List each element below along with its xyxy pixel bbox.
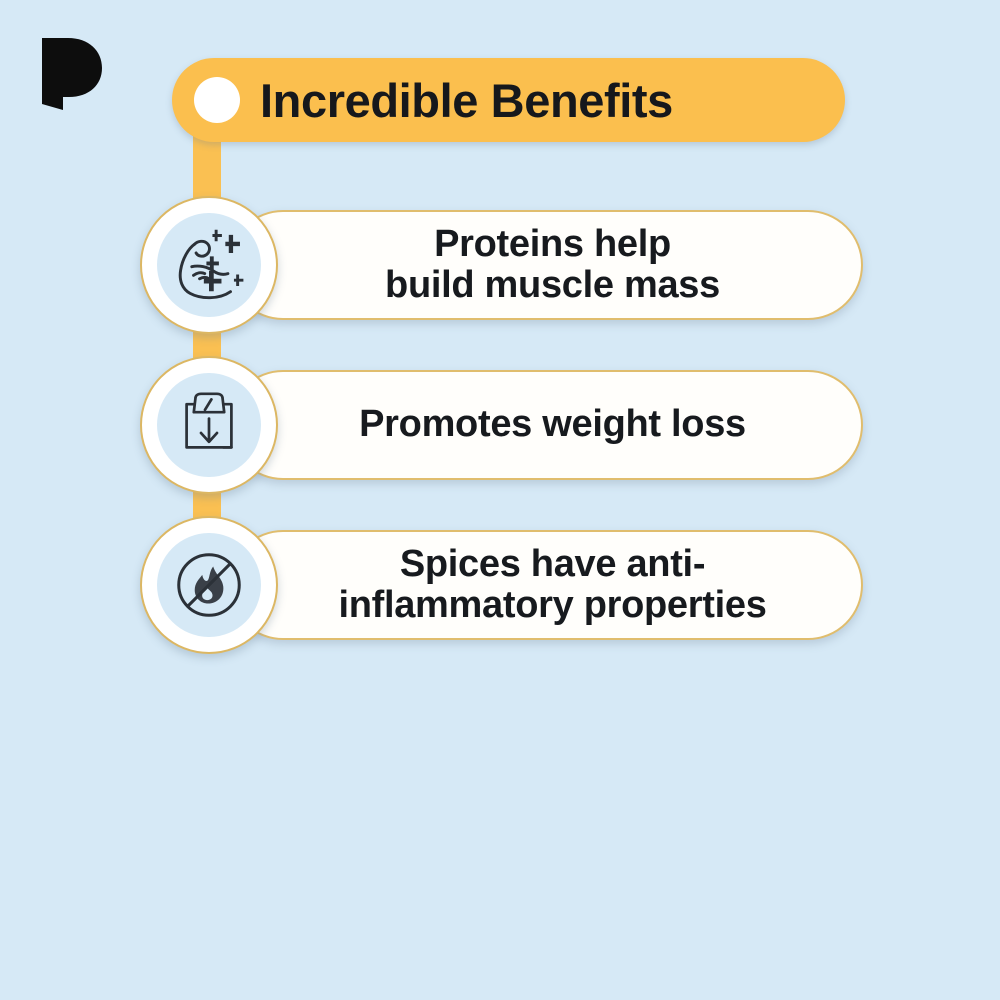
- weight-scale-down-arrow-icon: [157, 373, 261, 477]
- benefit-pill: Promotes weight loss: [228, 370, 863, 480]
- bullet-dot-icon: [194, 77, 240, 123]
- benefit-label: Promotes weight loss: [325, 404, 766, 445]
- benefit-icon-badge: [140, 196, 278, 334]
- benefit-pill: Proteins help build muscle mass: [228, 210, 863, 320]
- page-title: Incredible Benefits: [260, 77, 673, 124]
- benefit-icon-badge: [140, 516, 278, 654]
- no-fire-anti-inflammation-icon: [157, 533, 261, 637]
- header-pill: Incredible Benefits: [172, 58, 845, 142]
- benefit-row: Spices have anti- inflammatory propertie…: [0, 516, 1000, 654]
- benefit-icon-badge: [140, 356, 278, 494]
- benefits-infographic: Incredible Benefits Proteins help build …: [0, 0, 1000, 700]
- benefit-pill: Spices have anti- inflammatory propertie…: [228, 530, 863, 640]
- benefit-label: Proteins help build muscle mass: [351, 224, 740, 306]
- benefit-label: Spices have anti- inflammatory propertie…: [304, 544, 786, 626]
- benefit-row: Proteins help build muscle mass: [0, 196, 1000, 334]
- benefit-row: Promotes weight loss: [0, 356, 1000, 494]
- flexed-bicep-sparkle-icon: [157, 213, 261, 317]
